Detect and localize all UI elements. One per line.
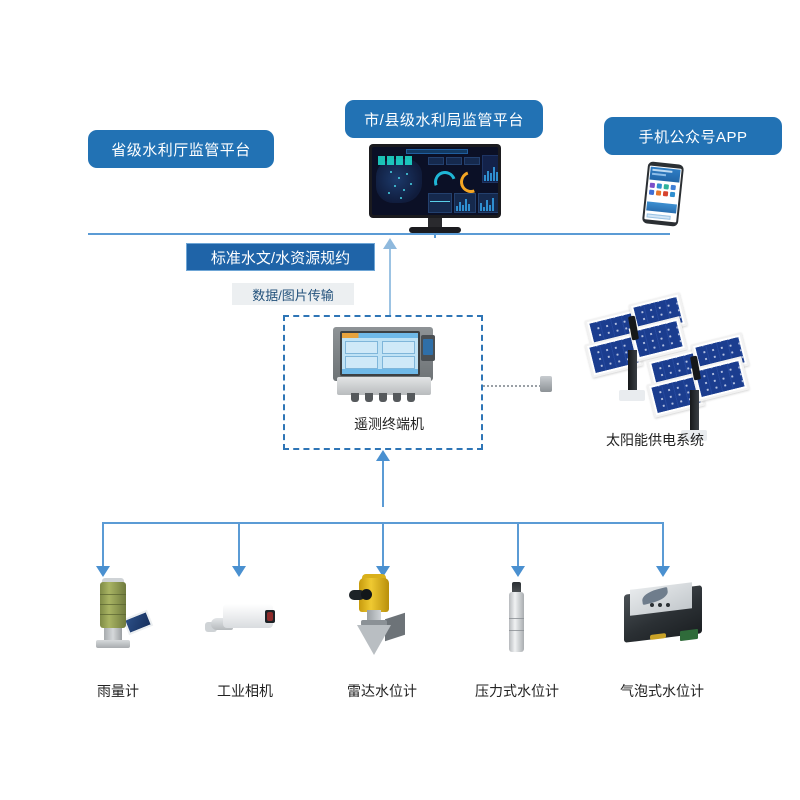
monitor-bezel [369,144,501,218]
dashboard-title-bar [406,149,468,154]
desktop-monitor-icon [369,144,501,234]
rain-gauge-icon [80,578,160,660]
phone-screen [644,165,681,222]
dashboard-bars-2 [456,197,470,211]
arrow-up-icon [376,450,390,461]
sensor-probe-tip [540,376,552,392]
sensor-label-industrial-camera: 工业相机 [189,681,301,701]
top-bus-line [88,233,670,235]
platform-city-county[interactable]: 市/县级水利局监管平台 [345,100,543,138]
rtu-downlink-line [382,455,384,507]
sensor-cable-lead [483,385,545,387]
branch-line-rain [102,522,104,570]
industrial-camera-icon [205,598,285,654]
dashboard-map [376,159,422,203]
rtu-display-frame [340,331,420,376]
rtu-label: 遥测终端机 [333,414,445,434]
pressure-level-sensor-icon [487,578,547,658]
sensor-label-bubbler-level: 气泡式水位计 [606,681,718,701]
monitor-screen [372,147,498,215]
radar-level-meter-icon [345,572,419,658]
arrow-down-icon [96,566,110,577]
rain-gauge-solar-panel [123,610,153,636]
arrow-up-icon [383,238,397,249]
rtu-lcd-screen [342,333,418,374]
monitor-connector [434,234,436,238]
rtu-enclosure [333,327,433,381]
platform-provincial[interactable]: 省级水利厅监管平台 [88,130,274,168]
diagram-canvas: 省级水利厅监管平台 市/县级水利局监管平台 手机公众号APP [0,0,800,800]
rtu-connector-port [423,339,433,355]
app-icon-grid [649,183,678,198]
branch-line-pressure [517,522,519,570]
dashboard-bars-1 [484,159,498,181]
solar-power-label: 太阳能供电系统 [590,430,720,450]
telemetry-terminal-icon [333,327,445,399]
branch-line-camera [238,522,240,570]
bubbler-level-sensor-icon [620,582,716,654]
branch-line-bubbler [662,522,664,570]
smartphone-icon [645,163,681,225]
rtu-uplink-line [389,248,391,316]
protocol-sublabel: 数据/图片传输 [232,283,354,305]
phone-body [642,161,684,226]
arrow-down-icon [656,566,670,577]
sensor-label-radar-level: 雷达水位计 [326,681,438,701]
arrow-down-icon [511,566,525,577]
sensor-label-pressure-level: 压力式水位计 [461,681,573,701]
dashboard-bars-3 [480,197,494,211]
platform-mobile-app[interactable]: 手机公众号APP [604,117,782,155]
branch-line-radar [382,522,384,570]
arrow-down-icon [232,566,246,577]
sensor-label-rain-gauge: 雨量计 [62,681,174,701]
protocol-label: 标准水文/水资源规约 [186,243,375,271]
